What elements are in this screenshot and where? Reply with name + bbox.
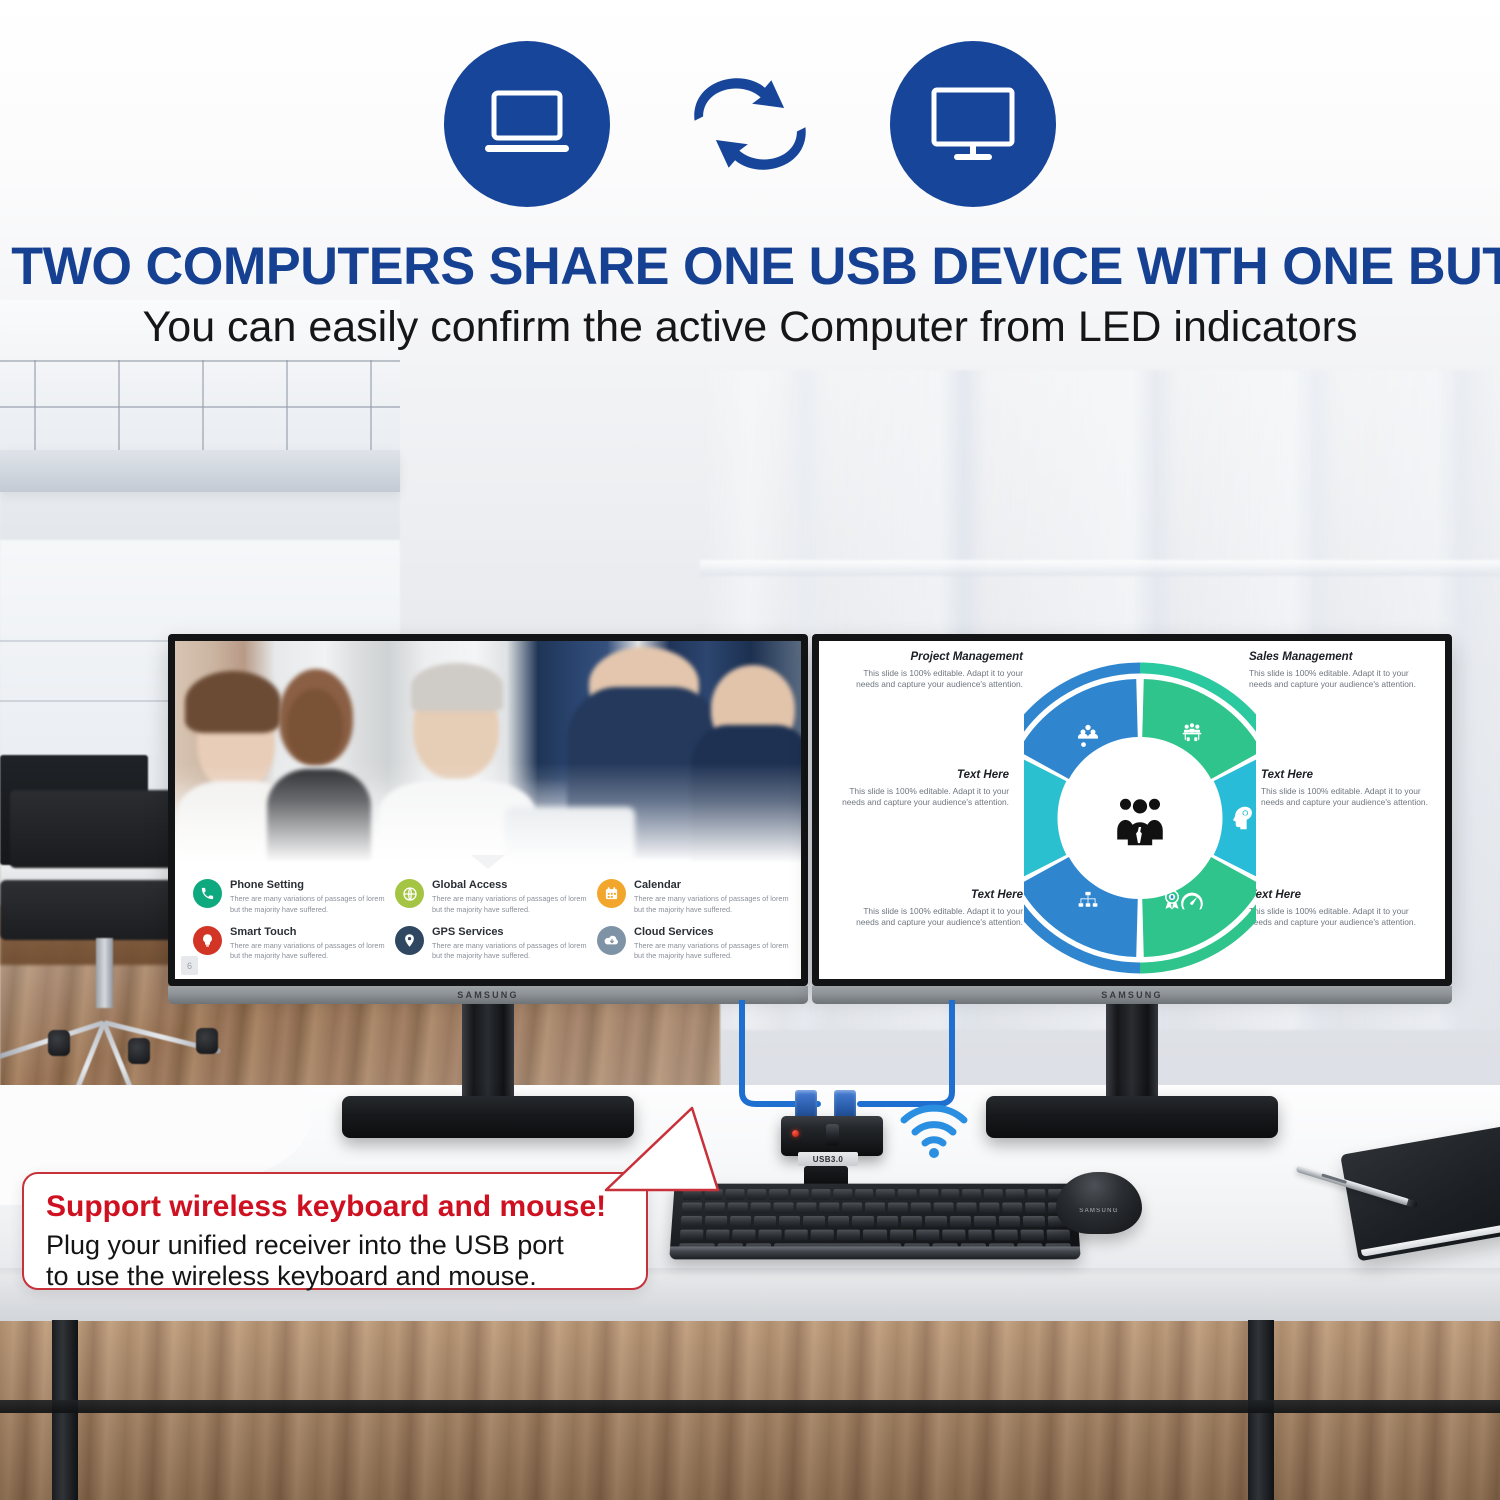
feature-title: Global Access [432, 879, 587, 892]
power-led [792, 1130, 799, 1137]
left-monitor-base [342, 1096, 634, 1138]
photo-notch [471, 855, 505, 869]
feature-body: There are many variations of passages of… [634, 941, 789, 962]
feature-body: There are many variations of passages of… [432, 894, 587, 915]
badge-award-icon [1159, 887, 1185, 913]
feature-title: Calendar [634, 879, 789, 892]
left-monitor-brand: SAMSUNG [457, 990, 518, 1000]
cloud-download-icon [597, 926, 626, 955]
feature-title: Cloud Services [634, 926, 789, 939]
location-pin-icon [395, 926, 424, 955]
monitor-badge [890, 41, 1056, 207]
right-screen-content: Project Management This slide is 100% ed… [819, 641, 1445, 979]
callout-line-1: Plug your unified receiver into the USB … [46, 1230, 624, 1261]
mouse-brand: SAMSUNG [1079, 1208, 1118, 1214]
photo-fade-overlay [175, 641, 801, 863]
keyboard-row [682, 1189, 1067, 1199]
keyboard-row [681, 1216, 1070, 1227]
feature-item[interactable]: Calendar There are many variations of pa… [597, 879, 789, 915]
hero-icon-row [0, 26, 1500, 222]
window-sill [700, 560, 1500, 576]
usb-switch-device[interactable]: USB3.0 [776, 1090, 886, 1190]
diagram-label: Text Here This slide is 100% editable. A… [831, 769, 1009, 809]
desktop-monitor-icon [926, 84, 1020, 164]
right-monitor-screen: Project Management This slide is 100% ed… [812, 634, 1452, 986]
keyboard-row [680, 1230, 1071, 1241]
callout-box: Support wireless keyboard and mouse! Plu… [22, 1172, 648, 1290]
keyboard-lip [669, 1246, 1081, 1259]
calendar-icon [597, 879, 626, 908]
mezzanine-railing [0, 360, 400, 452]
left-monitor-neck [462, 1004, 514, 1100]
callout-tail [600, 1106, 720, 1192]
feature-title: Phone Setting [230, 879, 385, 892]
feature-title: GPS Services [432, 926, 587, 939]
left-screen-content: Phone Setting There are many variations … [175, 641, 801, 979]
keyboard-row [682, 1203, 1069, 1214]
right-monitor-neck [1106, 1004, 1158, 1100]
keyboard-keys [679, 1189, 1070, 1243]
selector-button[interactable] [826, 1124, 839, 1146]
feature-title: Smart Touch [230, 926, 385, 939]
mezzanine-slab [0, 450, 400, 492]
callout-title: Support wireless keyboard and mouse! [46, 1190, 624, 1224]
callout-line-2: to use the wireless keyboard and mouse. [46, 1261, 624, 1292]
diagram-label: Text Here This slide is 100% editable. A… [845, 889, 1023, 929]
right-monitor-base [986, 1096, 1278, 1138]
feature-body: There are many variations of passages of… [634, 894, 789, 915]
hero-heading-block: TWO COMPUTERS SHARE ONE USB DEVICE WITH … [0, 240, 1500, 350]
phone-icon [193, 879, 222, 908]
feature-item[interactable]: Phone Setting There are many variations … [193, 879, 385, 915]
slide-page-number: 6 [181, 956, 198, 975]
wireless-mouse[interactable]: SAMSUNG [1056, 1172, 1142, 1234]
chair-caster [48, 1030, 70, 1056]
feature-item[interactable]: GPS Services There are many variations o… [395, 926, 587, 962]
diagram-label: Sales Management This slide is 100% edit… [1249, 651, 1427, 691]
feature-grid: Phone Setting There are many variations … [193, 879, 789, 962]
circular-process-diagram [1024, 657, 1256, 979]
diagram-label: Project Management This slide is 100% ed… [845, 651, 1023, 691]
bulb-pin-icon [193, 926, 222, 955]
globe-icon [395, 879, 424, 908]
right-monitor-brand: SAMSUNG [1101, 990, 1162, 1000]
page-title: TWO COMPUTERS SHARE ONE USB DEVICE WITH … [11, 240, 1489, 294]
desk-rail [0, 1400, 1500, 1413]
page-subtitle: You can easily confirm the active Comput… [0, 305, 1500, 350]
swap-arrows-icon [686, 64, 814, 184]
feature-body: There are many variations of passages of… [230, 941, 385, 962]
chair-caster [128, 1038, 150, 1064]
laptop-icon [481, 85, 573, 163]
feature-item[interactable]: Global Access There are many variations … [395, 879, 587, 915]
feature-body: There are many variations of passages of… [230, 894, 385, 915]
diagram-label: Text Here This slide is 100% editable. A… [1249, 889, 1427, 929]
diagram-label: Text Here This slide is 100% editable. A… [1261, 769, 1439, 809]
usb-switch-label: USB3.0 [798, 1152, 858, 1166]
feature-body: There are many variations of passages of… [432, 941, 587, 962]
feature-item[interactable]: Smart Touch There are many variations of… [193, 926, 385, 962]
wireless-keyboard[interactable] [669, 1184, 1081, 1260]
office-chair-post [96, 938, 113, 1008]
feature-item[interactable]: Cloud Services There are many variations… [597, 926, 789, 962]
laptop-badge [444, 41, 610, 207]
left-monitor-screen: Phone Setting There are many variations … [168, 634, 808, 986]
wifi-signal-icon [898, 1098, 970, 1160]
